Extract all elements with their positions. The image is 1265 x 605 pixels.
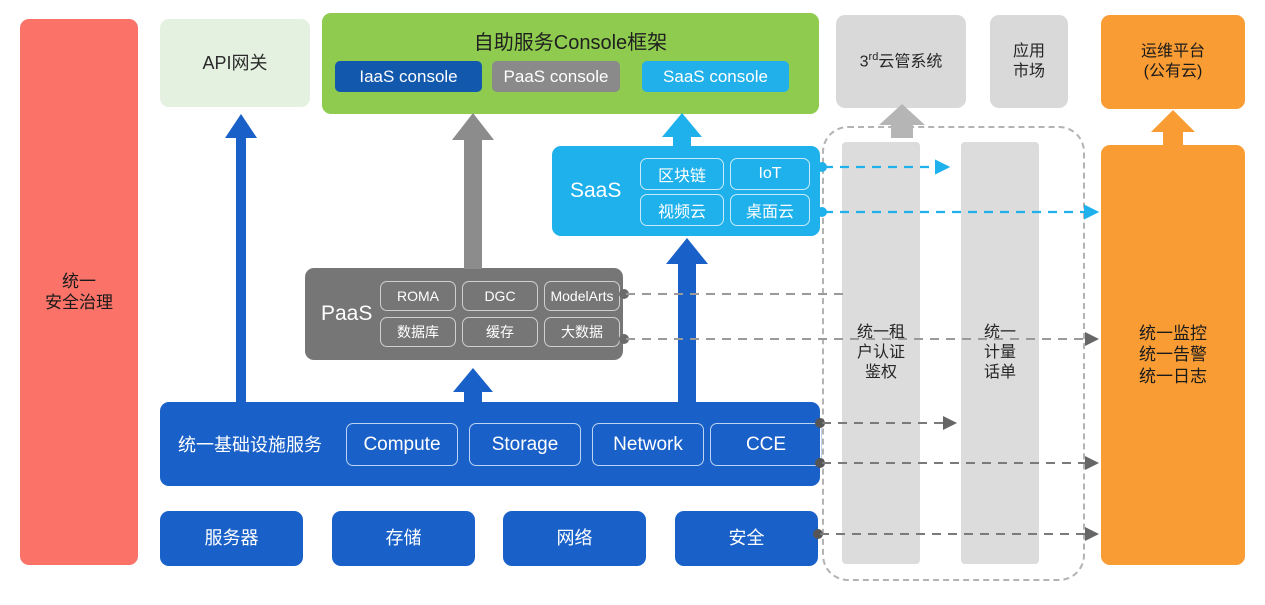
saas-console-label: SaaS console [663,67,768,87]
saas-chip-desktop-cloud-label: 桌面云 [746,198,794,222]
paas-chip-cache[interactable]: 缓存 [462,317,538,347]
saas-chip-blockchain-label: 区块链 [658,162,706,186]
infra-chip-compute[interactable]: Compute [346,423,458,466]
arrow-paas-to-console [452,113,494,269]
paas-chip-roma-label: ROMA [397,288,439,304]
security-governance-label: 统一 安全治理 [45,271,113,314]
tenant-auth-line1: 统一租 [857,323,905,343]
paas-chip-modelarts-label: ModelArts [550,288,613,304]
self-service-console-frame: 自助服务Console框架 IaaS console PaaS console … [322,13,819,114]
saas-label: SaaS [570,179,621,203]
tenant-auth-line3: 鉴权 [857,363,905,383]
security-governance-panel: 统一 安全治理 [20,19,138,565]
paas-chip-database[interactable]: 数据库 [380,317,456,347]
metering-line2: 计量 [984,343,1016,363]
hardware-box-network[interactable]: 网络 [503,511,646,566]
saas-box: SaaS 区块链 IoT 视频云 桌面云 [552,146,820,236]
saas-chip-iot-label: IoT [758,165,781,183]
iaas-console-chip[interactable]: IaaS console [335,61,482,92]
saas-chip-video-cloud-label: 视频云 [658,198,706,222]
saas-chip-blockchain[interactable]: 区块链 [640,158,724,190]
arrow-saas-to-console [662,113,702,149]
hardware-box-network-label: 网络 [557,527,593,550]
api-gateway-label: API网关 [202,52,267,75]
paas-label: PaaS [321,302,372,326]
architecture-diagram: 统一 安全治理 API网关 自助服务Console框架 IaaS console… [0,0,1265,605]
ops-platform-line2: (公有云) [1141,62,1205,82]
infra-chip-storage[interactable]: Storage [469,423,581,466]
ops-platform-line1: 运维平台 [1141,42,1205,62]
paas-chip-roma[interactable]: ROMA [380,281,456,311]
hardware-box-security-label: 安全 [729,527,765,550]
app-market-line2: 市场 [1013,62,1045,82]
third-party-suffix: 云管系统 [878,53,942,70]
arrow-infra-to-api-gateway [225,114,257,403]
paas-chip-bigdata[interactable]: 大数据 [544,317,620,347]
api-gateway-box: API网关 [160,19,310,107]
third-party-cloud-mgmt-label: 3rd云管系统 [860,51,943,72]
paas-chip-modelarts[interactable]: ModelArts [544,281,620,311]
paas-chip-dgc[interactable]: DGC [462,281,538,311]
app-market-label: 应用 市场 [1013,42,1045,82]
shared-column-metering-label: 统一 计量 话单 [984,323,1016,383]
infra-chip-storage-label: Storage [492,434,559,456]
security-governance-line1: 统一 [45,271,113,292]
hardware-box-storage-label: 存储 [386,527,422,550]
infra-chip-cce-label: CCE [746,434,786,456]
console-frame-title: 自助服务Console框架 [322,26,819,55]
third-party-prefix: 3 [860,53,869,70]
app-market-line1: 应用 [1013,42,1045,62]
unified-infrastructure-box: 统一基础设施服务 Compute Storage Network CCE [160,402,820,486]
paas-chip-database-label: 数据库 [397,322,439,342]
metering-line1: 统一 [984,323,1016,343]
shared-column-tenant-auth: 统一租 户认证 鉴权 [842,142,920,564]
iaas-console-label: IaaS console [359,67,457,87]
arrow-ops-column-to-platform [1151,110,1195,146]
ops-column-line3: 统一日志 [1139,366,1207,387]
infra-chip-network[interactable]: Network [592,423,704,466]
shared-column-tenant-auth-label: 统一租 户认证 鉴权 [857,323,905,383]
app-market-box: 应用 市场 [990,15,1068,108]
paas-chip-dgc-label: DGC [484,288,515,304]
security-governance-line2: 安全治理 [45,292,113,313]
ops-platform-box: 运维平台 (公有云) [1101,15,1245,109]
hardware-box-server-label: 服务器 [205,527,259,550]
tenant-auth-line2: 户认证 [857,343,905,363]
infra-chip-cce[interactable]: CCE [710,423,822,466]
hardware-box-security[interactable]: 安全 [675,511,818,566]
saas-chip-desktop-cloud[interactable]: 桌面云 [730,194,810,226]
ops-platform-label: 运维平台 (公有云) [1141,42,1205,82]
ops-column-box: 统一监控 统一告警 统一日志 [1101,145,1245,565]
saas-console-chip[interactable]: SaaS console [642,61,789,92]
connector-paas-to-tenant-auth [619,289,848,299]
arrow-infra-to-saas [666,238,708,405]
ops-column-line1: 统一监控 [1139,323,1207,344]
third-party-cloud-mgmt-box: 3rd云管系统 [836,15,966,108]
shared-column-metering: 统一 计量 话单 [961,142,1039,564]
infra-chip-network-label: Network [613,434,683,456]
hardware-box-storage[interactable]: 存储 [332,511,475,566]
paas-console-label: PaaS console [504,67,609,87]
ops-column-label: 统一监控 统一告警 统一日志 [1139,323,1207,387]
infra-chip-compute-label: Compute [363,434,440,456]
ops-column-line2: 统一告警 [1139,344,1207,365]
hardware-box-server[interactable]: 服务器 [160,511,303,566]
third-party-sup: rd [869,51,879,63]
paas-box: PaaS ROMA DGC ModelArts 数据库 缓存 大数据 [305,268,623,360]
paas-console-chip[interactable]: PaaS console [492,61,620,92]
paas-chip-cache-label: 缓存 [486,322,514,342]
arrow-infra-to-paas [453,368,493,405]
metering-line3: 话单 [984,363,1016,383]
saas-chip-iot[interactable]: IoT [730,158,810,190]
saas-chip-video-cloud[interactable]: 视频云 [640,194,724,226]
unified-infrastructure-label: 统一基础设施服务 [178,431,322,457]
paas-chip-bigdata-label: 大数据 [561,322,603,342]
